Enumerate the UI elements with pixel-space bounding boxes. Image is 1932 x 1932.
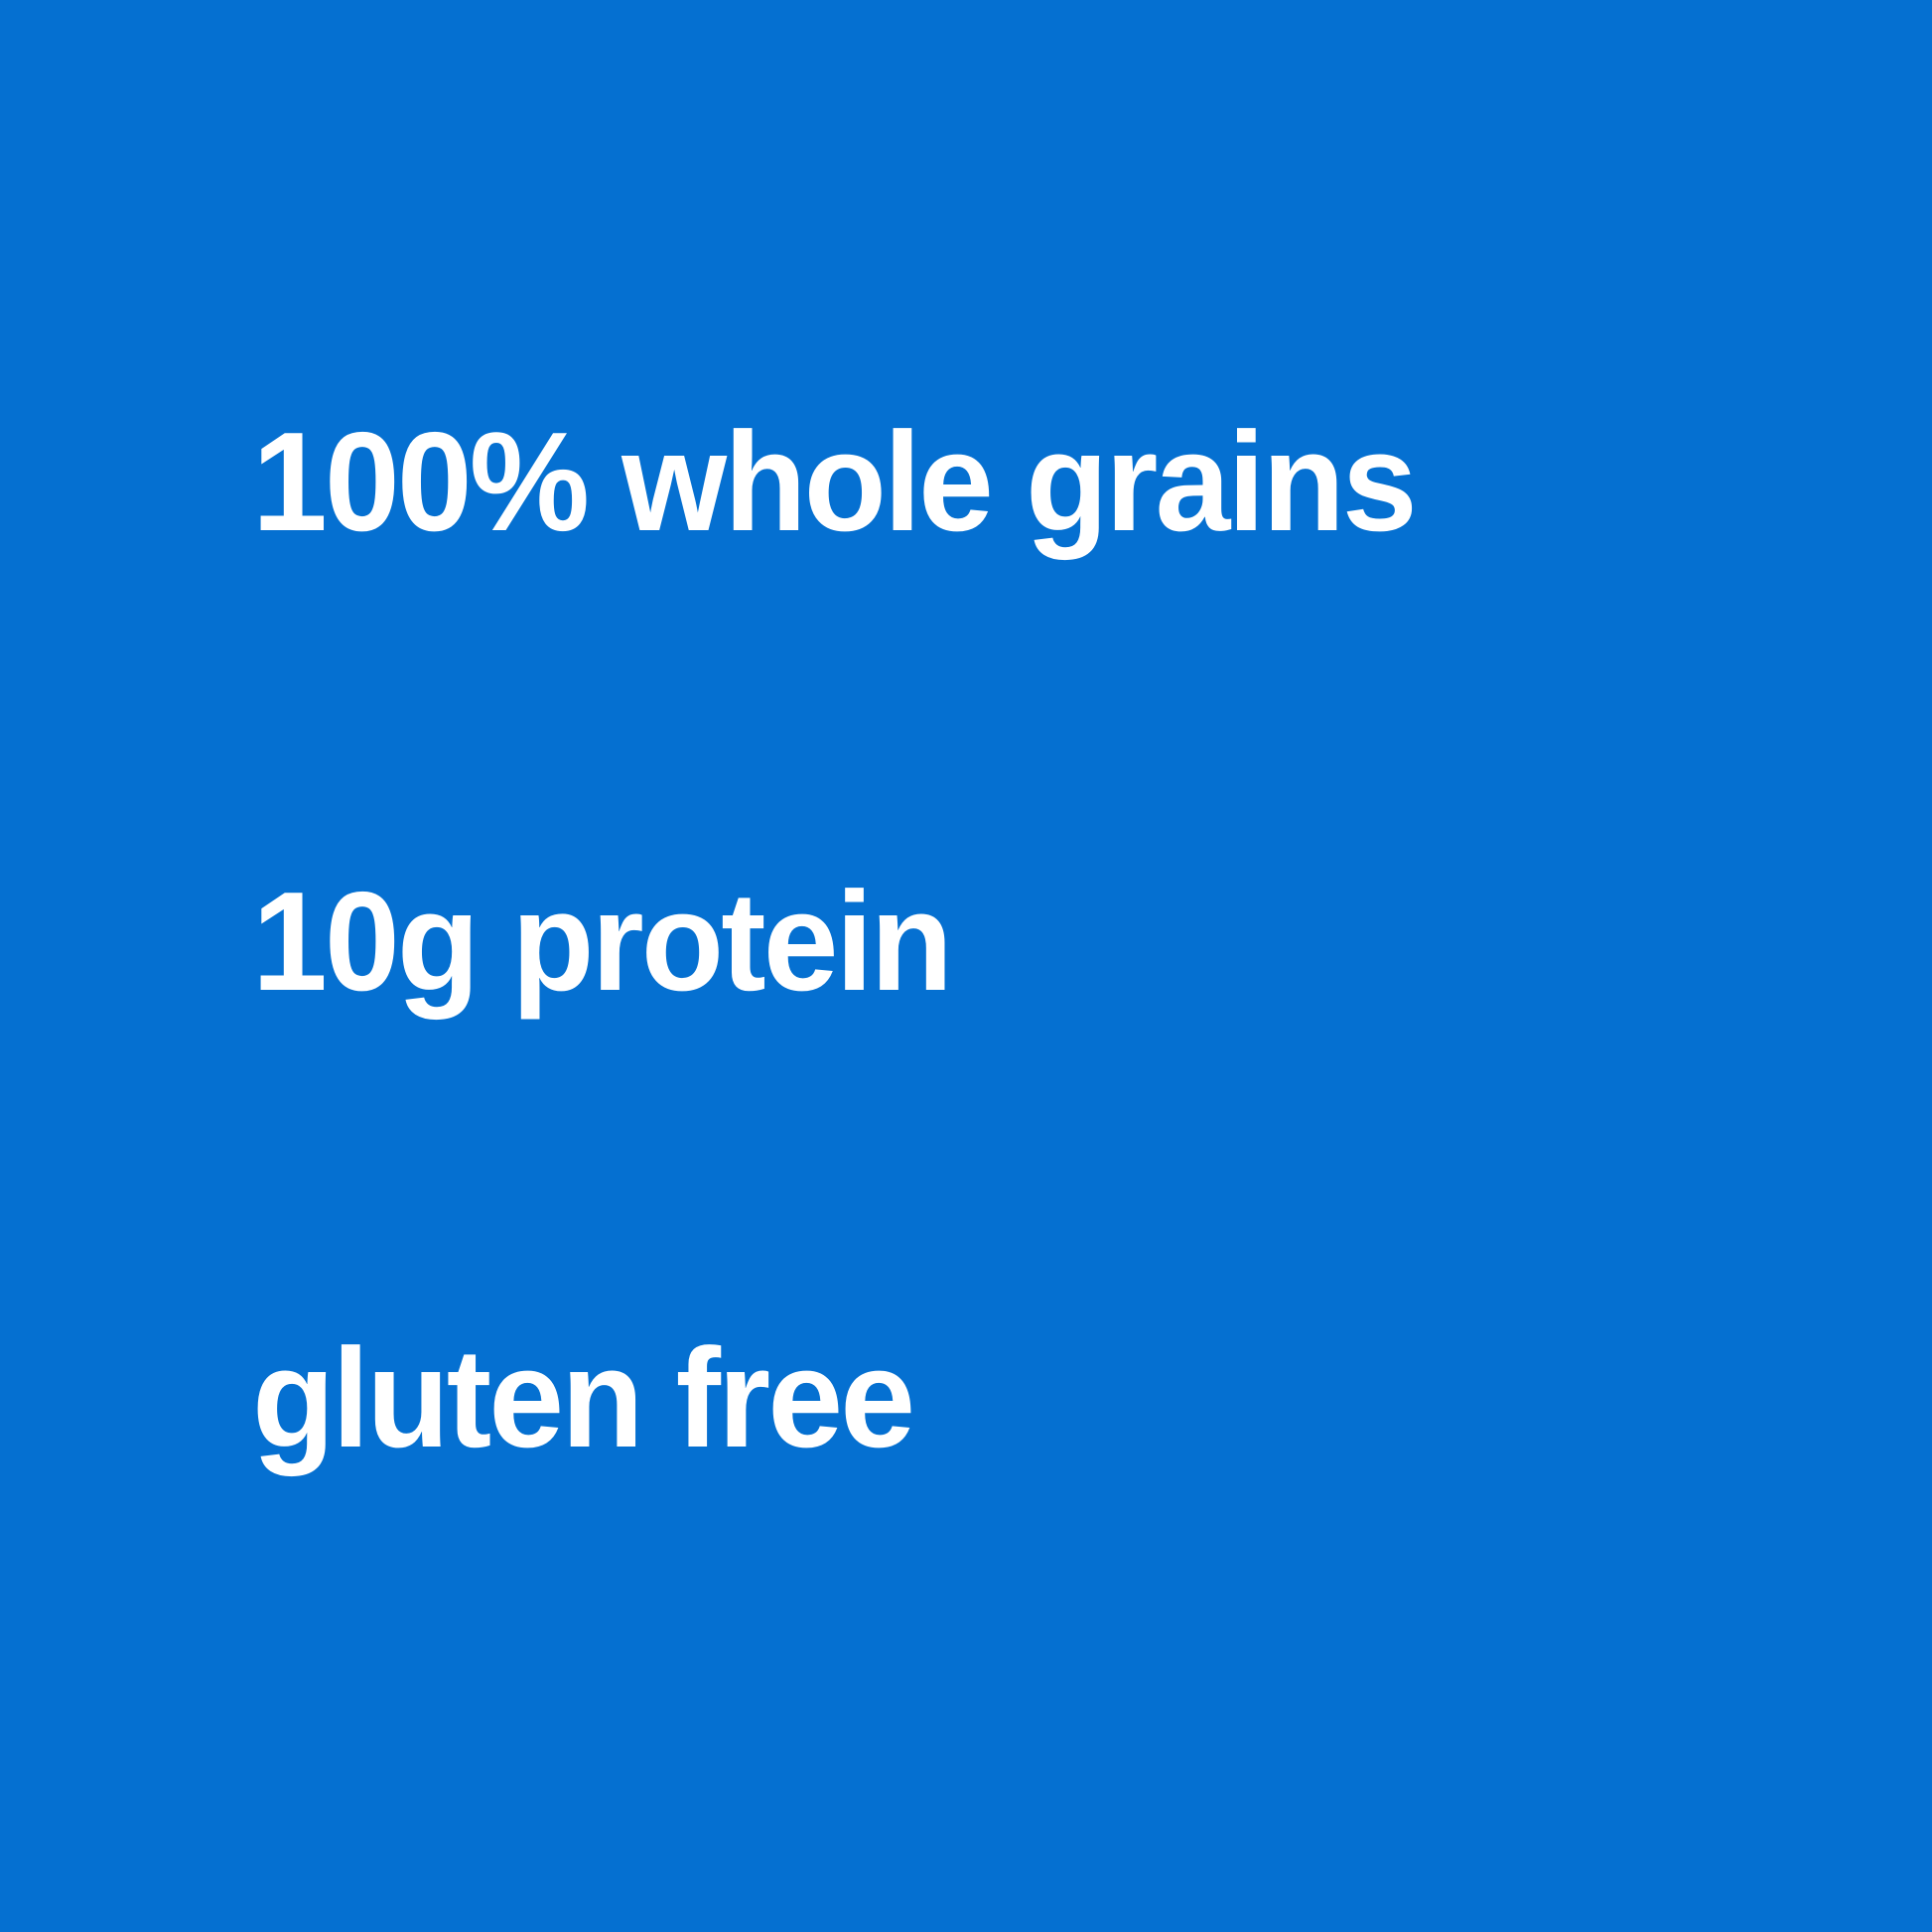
product-claim-protein: 10g protein	[252, 872, 950, 1013]
product-claim-whole-grains: 100% whole grains	[252, 412, 1415, 553]
product-claim-gluten-free: gluten free	[252, 1328, 912, 1469]
product-claims-graphic: 100% whole grains 10g protein gluten fre…	[0, 0, 1932, 1932]
product-claims-list: 100% whole grains 10g protein gluten fre…	[0, 0, 1932, 1932]
